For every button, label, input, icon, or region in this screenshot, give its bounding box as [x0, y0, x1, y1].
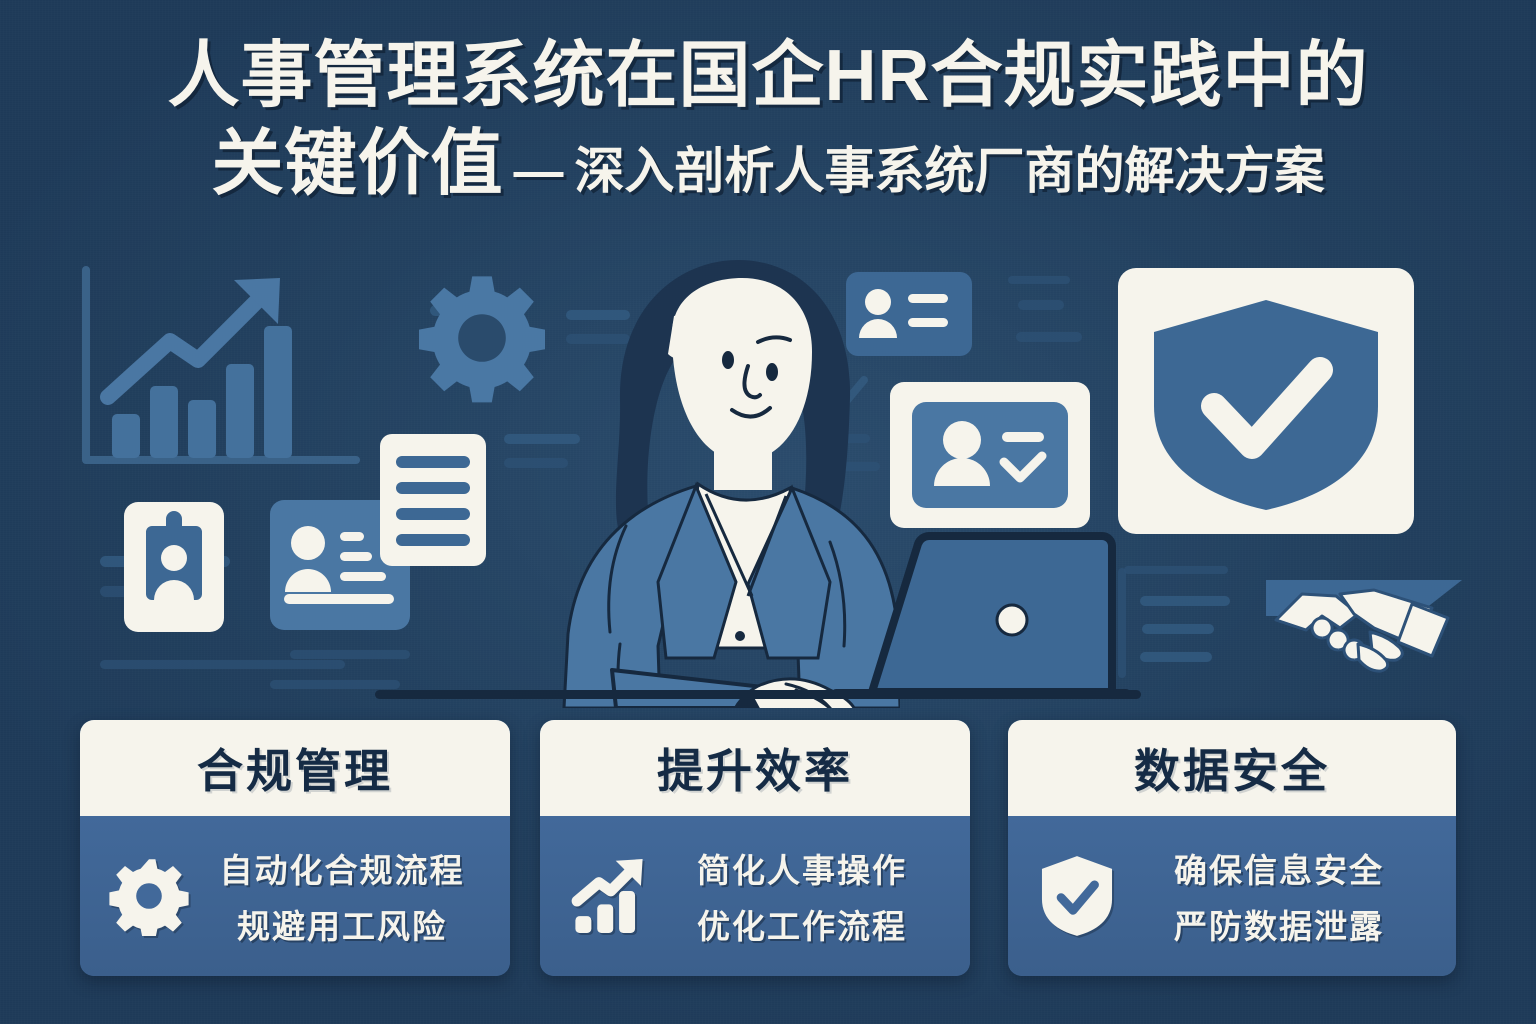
- card-line-2: 优化工作流程: [697, 900, 907, 948]
- feature-card-compliance[interactable]: 合规管理 自动化合规流程 规避用工风险: [80, 720, 510, 976]
- gear-icon: [106, 853, 192, 939]
- card-lines: 自动化合规流程 规避用工风险: [192, 844, 492, 948]
- card-body: 简化人事操作 优化工作流程: [540, 816, 970, 976]
- card-header: 合规管理: [80, 720, 510, 816]
- feature-card-efficiency[interactable]: 提升效率 简化人事操作 优化工作流程: [540, 720, 970, 976]
- title-dash: —: [504, 143, 575, 199]
- card-line-2: 严防数据泄露: [1174, 900, 1384, 948]
- id-badge-icon: [122, 500, 226, 634]
- document-lines-icon: [378, 432, 488, 568]
- desk-line: [375, 690, 1141, 699]
- title-line-1: 人事管理系统在国企HR合规实践中的: [0, 38, 1536, 116]
- decor-line: [1124, 566, 1228, 574]
- decor-line: [1008, 276, 1070, 284]
- feature-card-security[interactable]: 数据安全 确保信息安全 严防数据泄露: [1008, 720, 1456, 976]
- card-title: 提升效率: [657, 735, 853, 801]
- title-line-2-sub: 深入剖析人事系统厂商的解决方案: [575, 143, 1325, 199]
- card-header: 数据安全: [1008, 720, 1456, 816]
- card-lines: 简化人事操作 优化工作流程: [652, 844, 952, 948]
- decor-line: [1140, 596, 1230, 606]
- card-line-1: 简化人事操作: [697, 844, 907, 892]
- infographic-canvas: 人事管理系统在国企HR合规实践中的 关键价值—深入剖析人事系统厂商的解决方案: [0, 0, 1536, 1024]
- card-lines: 确保信息安全 严防数据泄露: [1120, 844, 1438, 948]
- handshake-icon: [1262, 558, 1462, 698]
- card-line-1: 自动化合规流程: [220, 844, 465, 892]
- bar-chart-growth-icon: [74, 264, 374, 474]
- card-title: 合规管理: [197, 735, 393, 801]
- decor-line: [1140, 652, 1212, 662]
- laptop-icon: [826, 528, 1136, 704]
- growth-chart-icon: [566, 853, 652, 939]
- card-body: 确保信息安全 严防数据泄露: [1008, 816, 1456, 976]
- title-line-2-main: 关键价值: [211, 124, 503, 204]
- card-header: 提升效率: [540, 720, 970, 816]
- decor-line: [100, 660, 345, 669]
- feature-cards: 合规管理 自动化合规流程 规避用工风险 提升效率: [0, 720, 1536, 990]
- shield-check-icon: [1034, 853, 1120, 939]
- title-line-2: 关键价值—深入剖析人事系统厂商的解决方案: [0, 126, 1536, 204]
- decor-line: [1142, 624, 1214, 634]
- verified-employee-card-icon: [890, 382, 1090, 528]
- decor-line: [1016, 332, 1082, 342]
- shield-check-card: [1116, 266, 1416, 536]
- decor-line: [290, 650, 410, 659]
- card-line-1: 确保信息安全: [1174, 844, 1384, 892]
- card-body: 自动化合规流程 规避用工风险: [80, 816, 510, 976]
- card-line-2: 规避用工风险: [237, 900, 447, 948]
- decor-line: [1018, 300, 1064, 310]
- card-title: 数据安全: [1134, 735, 1330, 801]
- decor-line: [270, 680, 400, 689]
- page-title: 人事管理系统在国企HR合规实践中的 关键价值—深入剖析人事系统厂商的解决方案: [0, 38, 1536, 204]
